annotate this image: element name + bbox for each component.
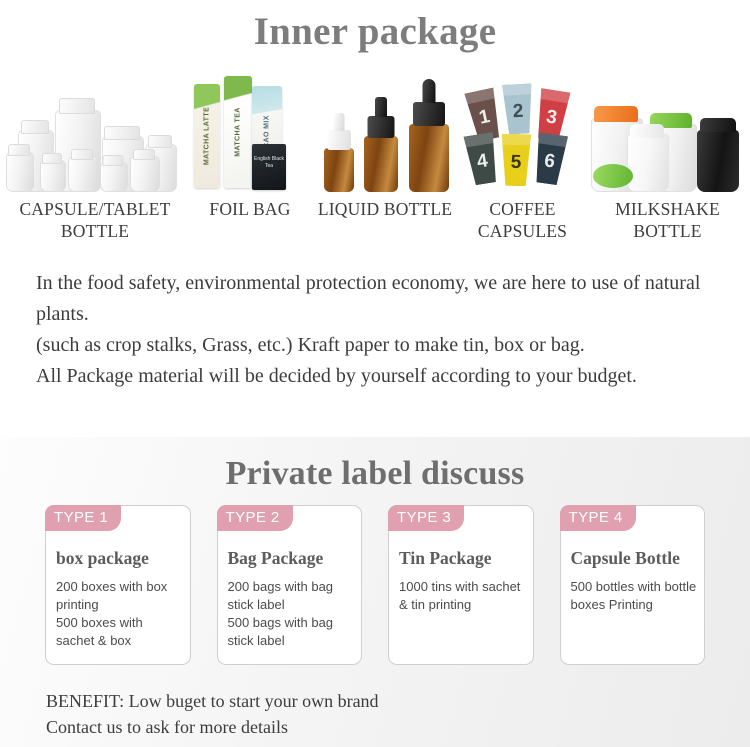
product-milkshake-bottle: MILKSHAKE BOTTLE xyxy=(585,72,750,243)
benefit-text: BENEFIT: Low buget to start your own bra… xyxy=(46,688,646,740)
private-label-card[interactable]: TYPE 1 box package 200 boxes with box pr… xyxy=(45,505,191,665)
product-label: LIQUID BOTTLE xyxy=(318,199,452,221)
card-body: 500 bottles with bottle boxes Printing xyxy=(571,578,699,614)
private-label-card[interactable]: TYPE 2 Bag Package 200 bags with bag sti… xyxy=(217,505,363,665)
product-liquid-bottle: LIQUID BOTTLE xyxy=(310,72,460,221)
card-body: 1000 tins with sachet & tin printing xyxy=(399,578,527,614)
product-label: FOIL BAG xyxy=(209,199,290,221)
private-label-title: Private label discuss xyxy=(0,455,750,493)
capsule-number: 1 xyxy=(477,106,492,130)
card-body: 200 boxes with box printing 500 boxes wi… xyxy=(56,578,184,650)
product-row: CAPSULE/TABLET BOTTLE MATCHA LATTE MATCH… xyxy=(0,72,750,257)
white-plastic-bottles-icon xyxy=(0,72,190,192)
card-title: Capsule Bottle xyxy=(571,548,699,569)
coffee-capsule-icon: 1 2 3 4 5 6 xyxy=(460,72,585,192)
product-foil-bag: MATCHA LATTE MATCHA TEA CACAO MIX Englis… xyxy=(190,72,310,221)
card-title: Tin Package xyxy=(399,548,527,569)
private-label-card-list: TYPE 1 box package 200 boxes with box pr… xyxy=(45,505,705,670)
capsule-number: 5 xyxy=(510,152,521,174)
capsule-number: 2 xyxy=(512,101,524,124)
capsule-number: 3 xyxy=(545,106,559,129)
milkshake-jar-icon xyxy=(585,72,750,192)
inner-package-title: Inner package xyxy=(0,8,750,57)
product-label: COFFEE CAPSULES xyxy=(478,199,567,243)
type-badge: TYPE 4 xyxy=(560,505,636,531)
capsule-number: 4 xyxy=(476,150,490,173)
private-label-card[interactable]: TYPE 3 Tin Package 1000 tins with sachet… xyxy=(388,505,534,665)
card-body: 200 bags with bag stick label 500 bags w… xyxy=(228,578,356,650)
private-label-card[interactable]: TYPE 4 Capsule Bottle 500 bottles with b… xyxy=(560,505,706,665)
product-label: CAPSULE/TABLET BOTTLE xyxy=(19,199,170,243)
card-title: Bag Package xyxy=(228,548,356,569)
product-coffee-capsules: 1 2 3 4 5 6 xyxy=(460,72,585,243)
card-title: box package xyxy=(56,548,184,569)
product-capsule-tablet-bottle: CAPSULE/TABLET BOTTLE xyxy=(0,72,190,243)
product-label: MILKSHAKE BOTTLE xyxy=(615,199,720,243)
capsule-number: 6 xyxy=(543,150,557,173)
foil-sachet-icon: MATCHA LATTE MATCHA TEA CACAO MIX Englis… xyxy=(190,72,310,192)
type-badge: TYPE 1 xyxy=(45,505,121,531)
page-root: Inner package xyxy=(0,0,750,747)
type-badge: TYPE 3 xyxy=(388,505,464,531)
type-badge: TYPE 2 xyxy=(217,505,293,531)
inner-package-description: In the food safety, environmental protec… xyxy=(36,268,726,392)
amber-dropper-bottle-icon xyxy=(310,72,460,192)
